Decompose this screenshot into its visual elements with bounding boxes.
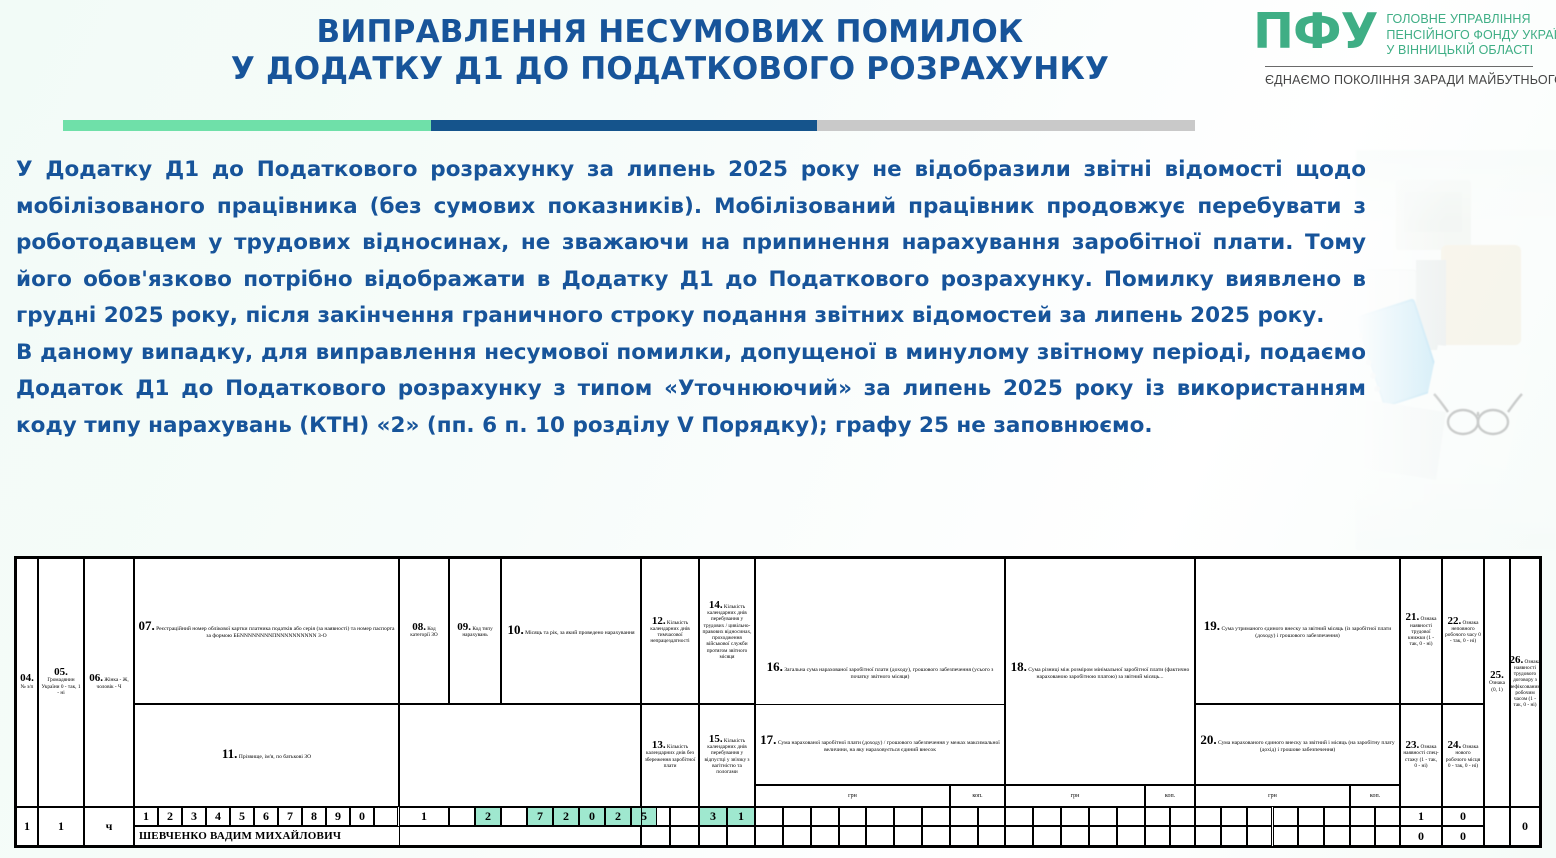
data-col22[interactable]: 0 bbox=[1442, 807, 1484, 826]
data-col18a-grn-3[interactable] bbox=[1061, 807, 1089, 826]
form-header-col-19: 19. Сума утриманого єдиного внеску за зв… bbox=[1195, 558, 1400, 704]
data-col18b-grn-3[interactable] bbox=[1061, 826, 1089, 846]
pfu-logo-mark: ПФУ bbox=[1253, 8, 1377, 55]
pfu-logo: ПФУ ГОЛОВНЕ УПРАВЛІННЯ ПЕНСІЙНОГО ФОНДУ … bbox=[1253, 8, 1553, 126]
form-header-col-24: 24. Ознака нового робочого місця 0 - так… bbox=[1442, 704, 1484, 807]
data-col20-grn-5[interactable] bbox=[1298, 826, 1324, 846]
form-header-col-15: 15. Кількість календарних днів перебуван… bbox=[699, 704, 755, 807]
data-col07-digit-9[interactable]: 9 bbox=[326, 807, 350, 826]
data-col16-grn-3[interactable] bbox=[811, 807, 839, 826]
data-col16-kop-1[interactable] bbox=[950, 807, 978, 826]
data-col19-kop-2[interactable] bbox=[1375, 807, 1400, 826]
body-text: У Додатку Д1 до Податкового розрахунку з… bbox=[16, 152, 1366, 444]
data-col07-digit-10[interactable]: 0 bbox=[350, 807, 374, 826]
data-col19-grn-4[interactable] bbox=[1273, 807, 1299, 826]
accent-segment-blue bbox=[431, 120, 817, 131]
data-col07-digit-8[interactable]: 8 bbox=[302, 807, 326, 826]
data-col21[interactable]: 1 bbox=[1400, 807, 1442, 826]
data-col07-digit-4[interactable]: 4 bbox=[206, 807, 230, 826]
data-col19-grn-1[interactable] bbox=[1195, 807, 1221, 826]
data-col18a-grn-5[interactable] bbox=[1117, 807, 1145, 826]
form-header-col-12: 12. Кількість календарних днів тимчасово… bbox=[641, 558, 699, 704]
form-header-col-26: 26. Ознака наявності трудового договору … bbox=[1510, 558, 1540, 807]
data-col18b-grn-1[interactable] bbox=[1005, 826, 1033, 846]
data-col26[interactable]: 0 bbox=[1510, 807, 1540, 846]
body-paragraph-1: У Додатку Д1 до Податкового розрахунку з… bbox=[16, 152, 1366, 335]
data-col19-grn-3[interactable] bbox=[1247, 807, 1273, 826]
data-col20-grn-6[interactable] bbox=[1324, 826, 1350, 846]
data-col23[interactable]: 0 bbox=[1400, 826, 1442, 846]
data-col10-cell-2[interactable]: 7 bbox=[527, 807, 553, 826]
data-col17-grn-3[interactable] bbox=[811, 826, 839, 846]
data-col16-grn-6[interactable] bbox=[894, 807, 922, 826]
data-col18b-grn-2[interactable] bbox=[1033, 826, 1061, 846]
form-header-col-25: 25. Ознака (0, 1) bbox=[1484, 558, 1510, 807]
form-header-col-23: 23. Ознака наявності спец-стажу (1 - так… bbox=[1400, 704, 1442, 807]
logo-line-1: ГОЛОВНЕ УПРАВЛІННЯ bbox=[1386, 12, 1556, 28]
data-col07-digit-6[interactable]: 6 bbox=[254, 807, 278, 826]
title-line-1: ВИПРАВЛЕННЯ НЕСУМОВИХ ПОМИЛОК bbox=[120, 14, 1220, 51]
data-col20-kop-1[interactable] bbox=[1350, 826, 1375, 846]
office-desk-photo bbox=[1356, 150, 1556, 550]
logo-line-3: У ВІННИЦЬКІЙ ОБЛАСТІ bbox=[1386, 43, 1556, 59]
data-col14-d2[interactable]: 1 bbox=[727, 807, 755, 826]
data-col19-grn-5[interactable] bbox=[1298, 807, 1324, 826]
data-col16-grn-1[interactable] bbox=[755, 807, 783, 826]
data-col24[interactable]: 0 bbox=[1442, 826, 1484, 846]
page-header: ВИПРАВЛЕННЯ НЕСУМОВИХ ПОМИЛОК У ДОДАТКУ … bbox=[0, 0, 1556, 132]
form-sub-16-kopiyka: коп. bbox=[950, 785, 1005, 807]
page-title: ВИПРАВЛЕННЯ НЕСУМОВИХ ПОМИЛОК У ДОДАТКУ … bbox=[120, 14, 1220, 88]
data-col20-kop-2[interactable] bbox=[1375, 826, 1400, 846]
data-col10-cell-1[interactable] bbox=[501, 807, 527, 826]
data-col17-kop-1[interactable] bbox=[950, 826, 978, 846]
data-col17-kop-2[interactable] bbox=[978, 826, 1006, 846]
data-col14-d1[interactable]: 3 bbox=[699, 807, 727, 826]
accent-bar bbox=[63, 120, 1195, 131]
data-col09-ktn[interactable]: 2 bbox=[475, 807, 501, 826]
title-line-2: У ДОДАТКУ Д1 ДО ПОДАТКОВОГО РОЗРАХУНКУ bbox=[120, 51, 1220, 88]
data-col05[interactable]: 1 bbox=[38, 807, 84, 846]
data-col07-digit-2[interactable]: 2 bbox=[158, 807, 182, 826]
data-col17-grn-1[interactable] bbox=[755, 826, 783, 846]
accent-segment-green bbox=[63, 120, 431, 131]
data-col06[interactable]: ч bbox=[84, 807, 134, 846]
data-col17-grn-4[interactable] bbox=[839, 826, 867, 846]
data-col15-d2[interactable] bbox=[727, 826, 755, 846]
form-header-col-14: 14. Кількість календарних днів перебуван… bbox=[699, 558, 755, 704]
form-header-col-13: 13. Кількість календарних днів без збере… bbox=[641, 704, 699, 807]
data-col07-digit-7[interactable]: 7 bbox=[278, 807, 302, 826]
data-col07-digit-3[interactable]: 3 bbox=[182, 807, 206, 826]
data-col19-grn-6[interactable] bbox=[1324, 807, 1350, 826]
data-col15-d1[interactable] bbox=[699, 826, 727, 846]
form-header-col-04: 04. № з/п bbox=[16, 558, 38, 807]
data-col16-grn-5[interactable] bbox=[866, 807, 894, 826]
form-header-col-18: 18. Сума різниці між розміром мінімально… bbox=[1005, 558, 1195, 785]
form-header-col-22: 22. Ознака неповного робочого часу 0 - т… bbox=[1442, 558, 1484, 704]
data-col20-grn-4[interactable] bbox=[1273, 826, 1299, 846]
data-col07-digit-1[interactable]: 1 bbox=[134, 807, 158, 826]
data-col10-cell-4[interactable]: 0 bbox=[579, 807, 605, 826]
data-col17-grn-7[interactable] bbox=[922, 826, 950, 846]
form-header-col-07: 07. Реєстраційний номер облікової картки… bbox=[134, 558, 399, 704]
form-sub-19-hryvnia: грн bbox=[1195, 785, 1350, 807]
form-dodatok-d1: 04. № з/п05. Громадянин України 0 - так,… bbox=[14, 556, 1542, 848]
data-col20-grn-2[interactable] bbox=[1221, 826, 1247, 846]
data-col20-grn-3[interactable] bbox=[1247, 826, 1273, 846]
data-col25[interactable] bbox=[1484, 807, 1510, 846]
page-background: ВИПРАВЛЕННЯ НЕСУМОВИХ ПОМИЛОК У ДОДАТКУ … bbox=[0, 0, 1556, 858]
data-col16-grn-4[interactable] bbox=[839, 807, 867, 826]
data-col07-digit-5[interactable]: 5 bbox=[230, 807, 254, 826]
form-header-col-11: 11. Прізвище, ім'я, по батькові ЗО bbox=[134, 704, 399, 807]
data-col18b-grn-5[interactable] bbox=[1117, 826, 1145, 846]
data-col12-d1[interactable] bbox=[641, 807, 670, 826]
pfu-logo-text: ГОЛОВНЕ УПРАВЛІННЯ ПЕНСІЙНОГО ФОНДУ УКРА… bbox=[1386, 8, 1556, 59]
form-header-col-20: 20. Сума нарахованого єдиного внеску за … bbox=[1195, 704, 1400, 785]
form-header-col-09: 09. Код типу нарахувань bbox=[449, 558, 501, 704]
data-col18a-kop-1[interactable] bbox=[1145, 807, 1170, 826]
data-col18b-kop-1[interactable] bbox=[1145, 826, 1170, 846]
data-col20-grn-1[interactable] bbox=[1195, 826, 1221, 846]
accent-segment-gray bbox=[817, 120, 1195, 131]
data-col08[interactable]: 1 bbox=[399, 807, 449, 826]
data-col09-blank[interactable] bbox=[449, 807, 475, 826]
form-header-col-06: 06. Жінка - Ж, чоловік - Ч bbox=[84, 558, 134, 807]
form-sub-18-kopiyka: коп. bbox=[1145, 785, 1195, 807]
data-col13-d2[interactable] bbox=[670, 826, 699, 846]
form-header-col-17: 17. Сума нарахованої заробітної плати (д… bbox=[755, 704, 1005, 785]
form-header-col-10: 10. Місяць та рік, за який проведено нар… bbox=[501, 558, 641, 704]
data-col10-cell-3[interactable]: 2 bbox=[553, 807, 579, 826]
data-col18a-grn-2[interactable] bbox=[1033, 807, 1061, 826]
form-header-col-08: 08. Код категорії ЗО bbox=[399, 558, 449, 704]
data-row-lower-0810[interactable] bbox=[399, 826, 641, 846]
form-sub-18-hryvnia: грн bbox=[1005, 785, 1145, 807]
data-col17-grn-5[interactable] bbox=[866, 826, 894, 846]
data-col18a-kop-2[interactable] bbox=[1170, 807, 1195, 826]
form-sub-16-hryvnia: грн bbox=[755, 785, 950, 807]
data-col17-grn-2[interactable] bbox=[783, 826, 811, 846]
form-sub-19-kopiyka: коп. bbox=[1350, 785, 1400, 807]
data-col18a-grn-4[interactable] bbox=[1089, 807, 1117, 826]
data-col10-cell-5[interactable]: 2 bbox=[605, 807, 631, 826]
form-header-col-21: 21. Ознака наявності трудової книжки (1 … bbox=[1400, 558, 1442, 704]
data-col19-kop-1[interactable] bbox=[1350, 807, 1375, 826]
logo-slogan: ЄДНАЄМО ПОКОЛІННЯ ЗАРАДИ МАЙБУТНЬОГО bbox=[1265, 73, 1553, 87]
form-header-col-05: 05. Громадянин України 0 - так, 1 - ні bbox=[38, 558, 84, 807]
data-col18b-grn-4[interactable] bbox=[1089, 826, 1117, 846]
data-col12-d2[interactable] bbox=[670, 807, 699, 826]
form-cell-11-extension bbox=[399, 704, 641, 807]
data-col19-grn-2[interactable] bbox=[1221, 807, 1247, 826]
data-col07-digit-11[interactable] bbox=[374, 807, 398, 826]
data-col17-grn-6[interactable] bbox=[894, 826, 922, 846]
data-col16-grn-7[interactable] bbox=[922, 807, 950, 826]
logo-divider bbox=[1265, 66, 1533, 67]
data-col18a-grn-1[interactable] bbox=[1005, 807, 1033, 826]
data-col18b-kop-2[interactable] bbox=[1170, 826, 1195, 846]
data-col13-d1[interactable] bbox=[641, 826, 670, 846]
data-col16-kop-2[interactable] bbox=[978, 807, 1006, 826]
data-col16-grn-2[interactable] bbox=[783, 807, 811, 826]
data-col04[interactable]: 1 bbox=[16, 807, 38, 846]
body-paragraph-2: В даному випадку, для виправлення несумо… bbox=[16, 335, 1366, 445]
logo-line-2: ПЕНСІЙНОГО ФОНДУ УКРАЇНИ bbox=[1386, 28, 1556, 44]
